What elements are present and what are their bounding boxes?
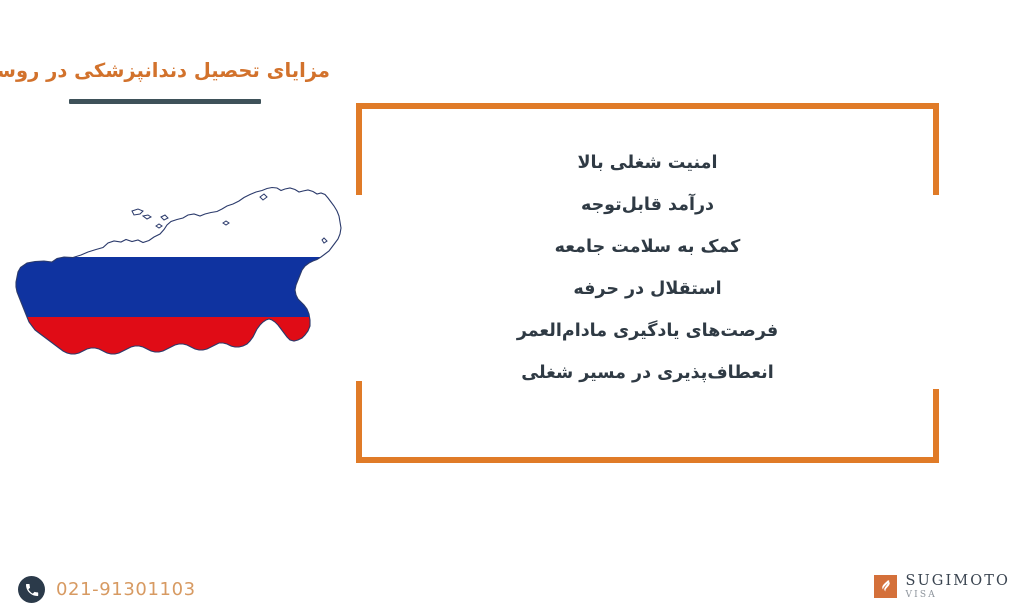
list-item: کمک به سلامت جامعه (356, 239, 939, 257)
title-underline-rule (69, 99, 261, 104)
benefits-frame: امنیت شغلی بالا درآمد قابل‌توجه کمک به س… (356, 103, 939, 463)
title-block: مزایای تحصیل دندانپزشکی در روسیه (0, 58, 330, 104)
frame-border-right-lower (933, 389, 939, 463)
logo-subtitle: VISA (905, 591, 1010, 600)
frame-border-top (356, 103, 939, 109)
flag-stripes (4, 185, 348, 400)
list-item: فرصت‌های یادگیری مادام‌العمر (356, 323, 939, 341)
list-item: درآمد قابل‌توجه (356, 197, 939, 215)
slide-canvas: مزایای تحصیل دندانپزشکی در روسیه (0, 0, 1024, 614)
frame-border-left-lower (356, 381, 362, 463)
list-item: استقلال در حرفه (356, 281, 939, 299)
brand-logo[interactable]: SUGIMOTO VISA (874, 574, 1010, 601)
frame-border-bottom (356, 457, 939, 463)
page-title: مزایای تحصیل دندانپزشکی در روسیه (0, 58, 330, 84)
phone-number-text: 021-91301103 (56, 579, 196, 600)
russia-map-graphic (4, 185, 348, 400)
logo-text-block: SUGIMOTO VISA (905, 574, 1010, 601)
logo-name: SUGIMOTO (905, 574, 1010, 589)
list-item: امنیت شغلی بالا (356, 155, 939, 173)
contact-phone[interactable]: 021-91301103 (18, 576, 196, 603)
list-item: انعطاف‌پذیری در مسیر شغلی (356, 365, 939, 383)
flame-mark-icon (874, 575, 897, 598)
benefits-list: امنیت شغلی بالا درآمد قابل‌توجه کمک به س… (356, 155, 939, 383)
phone-icon (18, 576, 45, 603)
